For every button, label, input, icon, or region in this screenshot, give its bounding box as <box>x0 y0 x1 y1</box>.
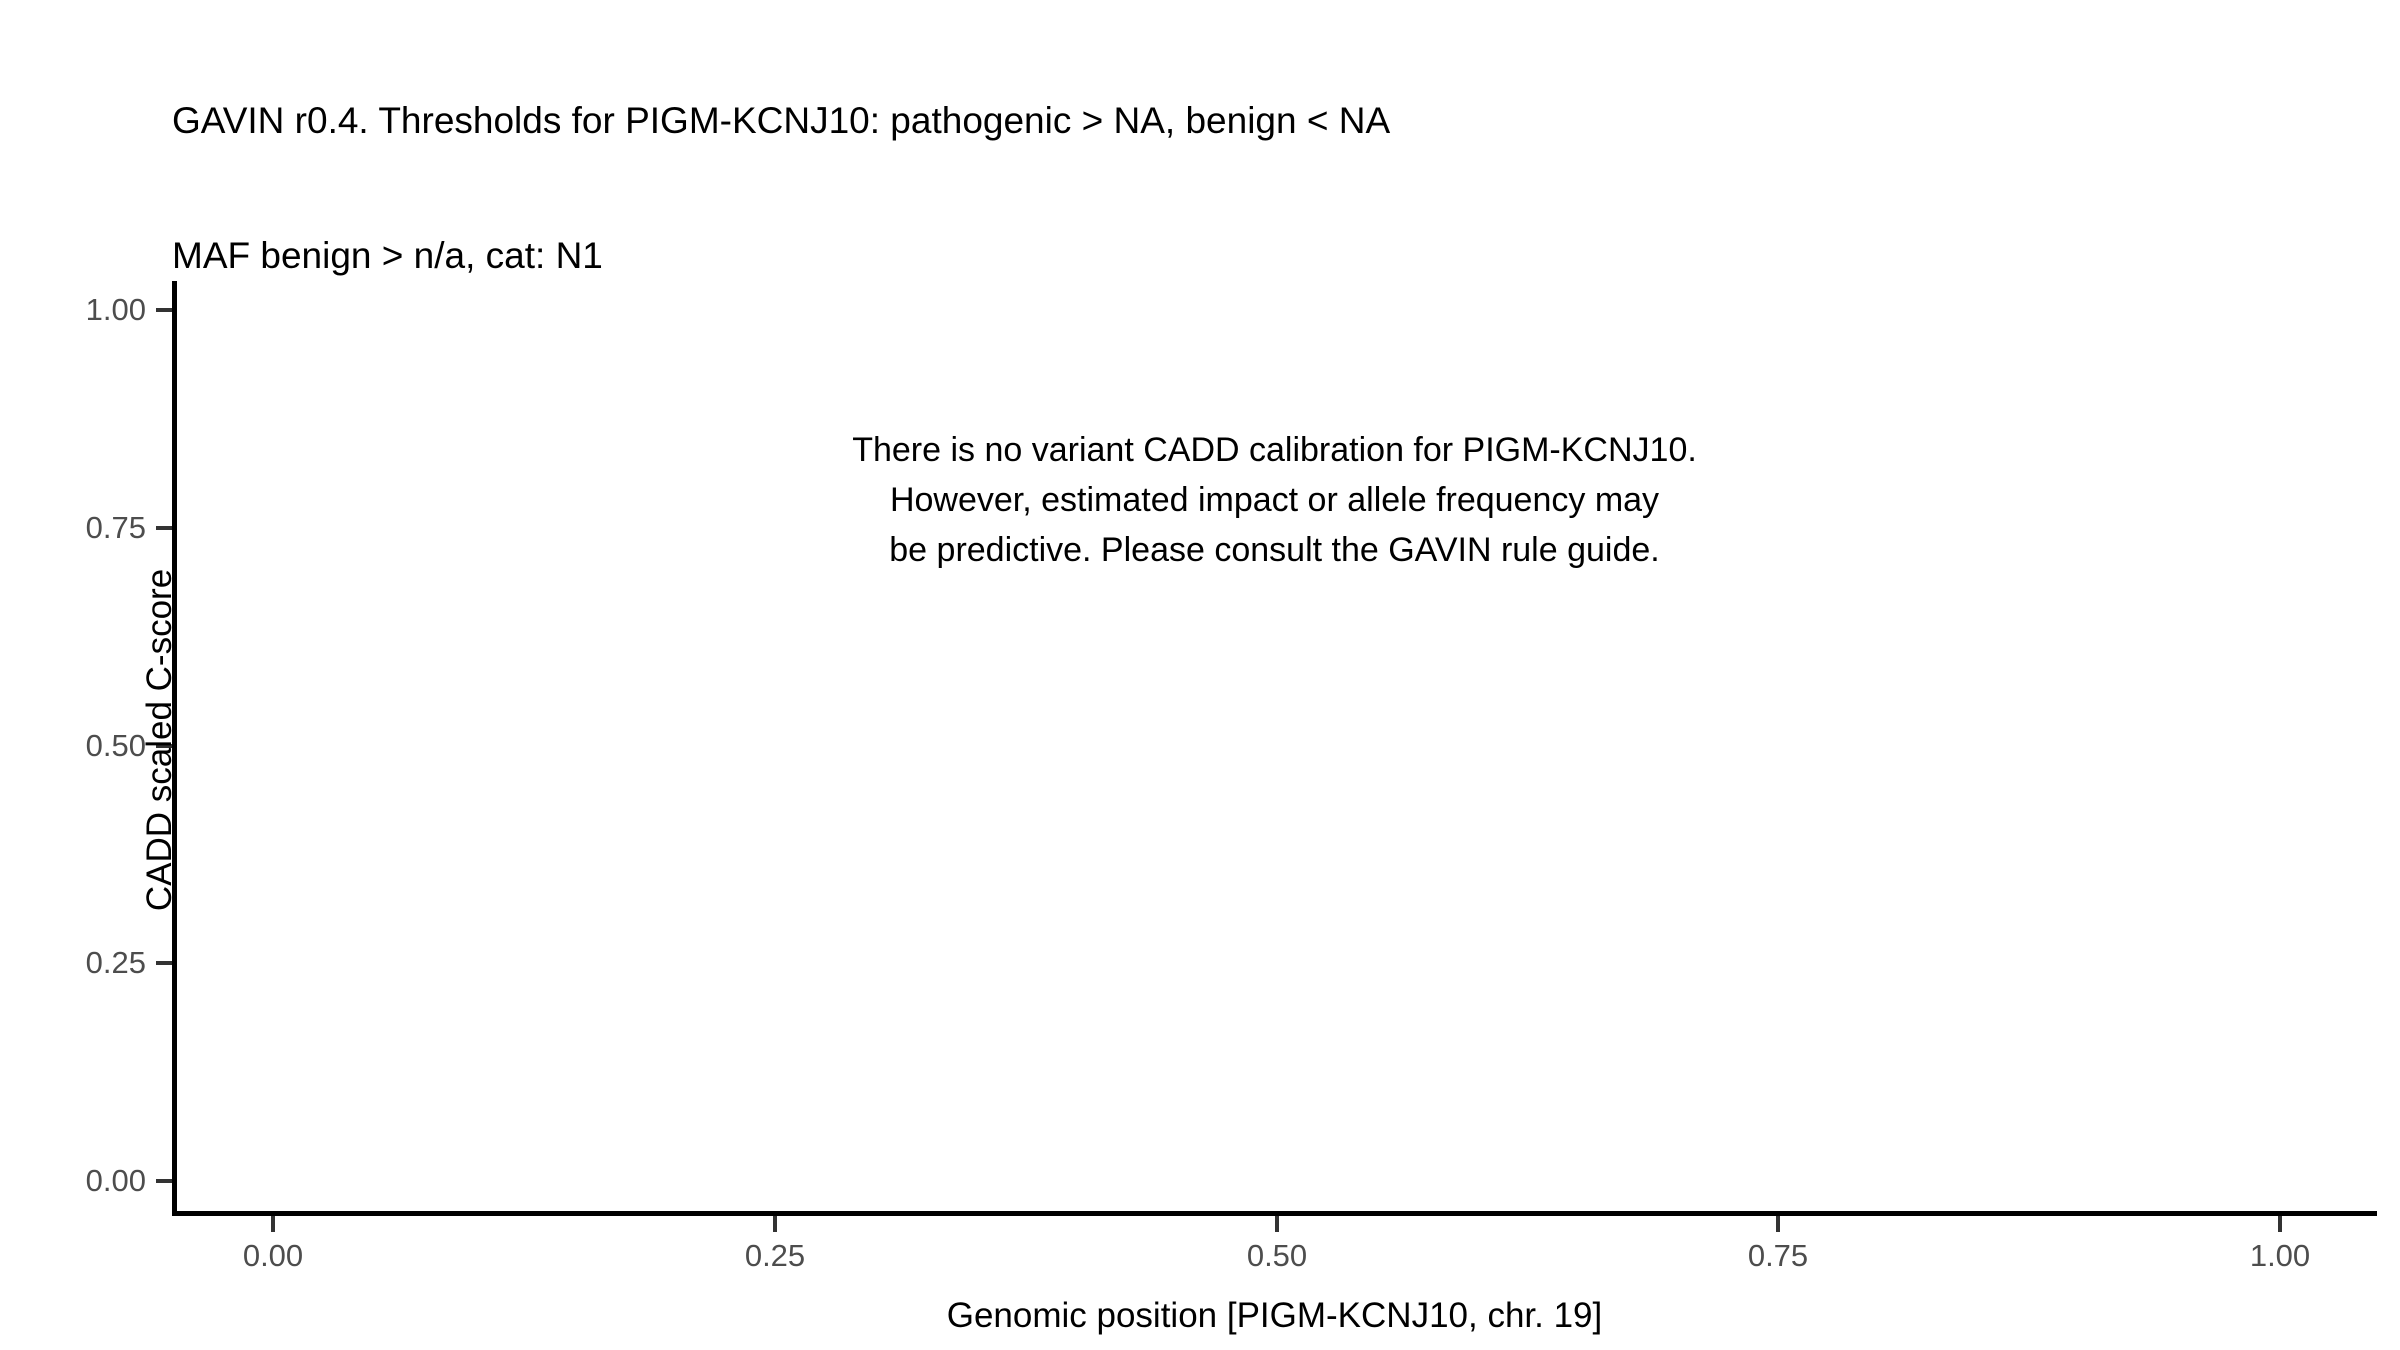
plot-title-line-2: MAF benign > n/a, cat: N1 <box>172 233 2272 278</box>
x-tick-mark-3 <box>1776 1216 1780 1232</box>
y-tick-label-3: 0.75 <box>36 512 146 543</box>
figure-canvas: GAVIN r0.4. Thresholds for PIGM-KCNJ10: … <box>0 0 2400 1350</box>
x-tick-label-2: 0.50 <box>1197 1240 1357 1271</box>
x-axis-title: Genomic position [PIGM-KCNJ10, chr. 19] <box>172 1296 2377 1336</box>
x-tick-label-4: 1.00 <box>2200 1240 2360 1271</box>
y-tick-label-4: 1.00 <box>36 294 146 325</box>
y-tick-label-0: 0.00 <box>36 1165 146 1196</box>
x-tick-mark-1 <box>773 1216 777 1232</box>
panel-annotation-line-3: be predictive. Please consult the GAVIN … <box>172 525 2377 575</box>
y-tick-label-1: 0.25 <box>36 947 146 978</box>
y-tick-label-2: 0.50 <box>36 730 146 761</box>
x-tick-label-1: 0.25 <box>695 1240 855 1271</box>
plot-panel <box>172 281 2377 1215</box>
x-tick-mark-2 <box>1275 1216 1279 1232</box>
plot-title-line-1: GAVIN r0.4. Thresholds for PIGM-KCNJ10: … <box>172 98 2272 143</box>
y-axis-title: CADD scaled C-score <box>140 270 180 1210</box>
panel-annotation-line-1: There is no variant CADD calibration for… <box>172 425 2377 475</box>
x-tick-mark-0 <box>271 1216 275 1232</box>
x-tick-label-0: 0.00 <box>193 1240 353 1271</box>
panel-annotation: There is no variant CADD calibration for… <box>172 425 2377 575</box>
panel-annotation-line-2: However, estimated impact or allele freq… <box>172 475 2377 525</box>
x-tick-mark-4 <box>2278 1216 2282 1232</box>
x-tick-label-3: 0.75 <box>1698 1240 1858 1271</box>
